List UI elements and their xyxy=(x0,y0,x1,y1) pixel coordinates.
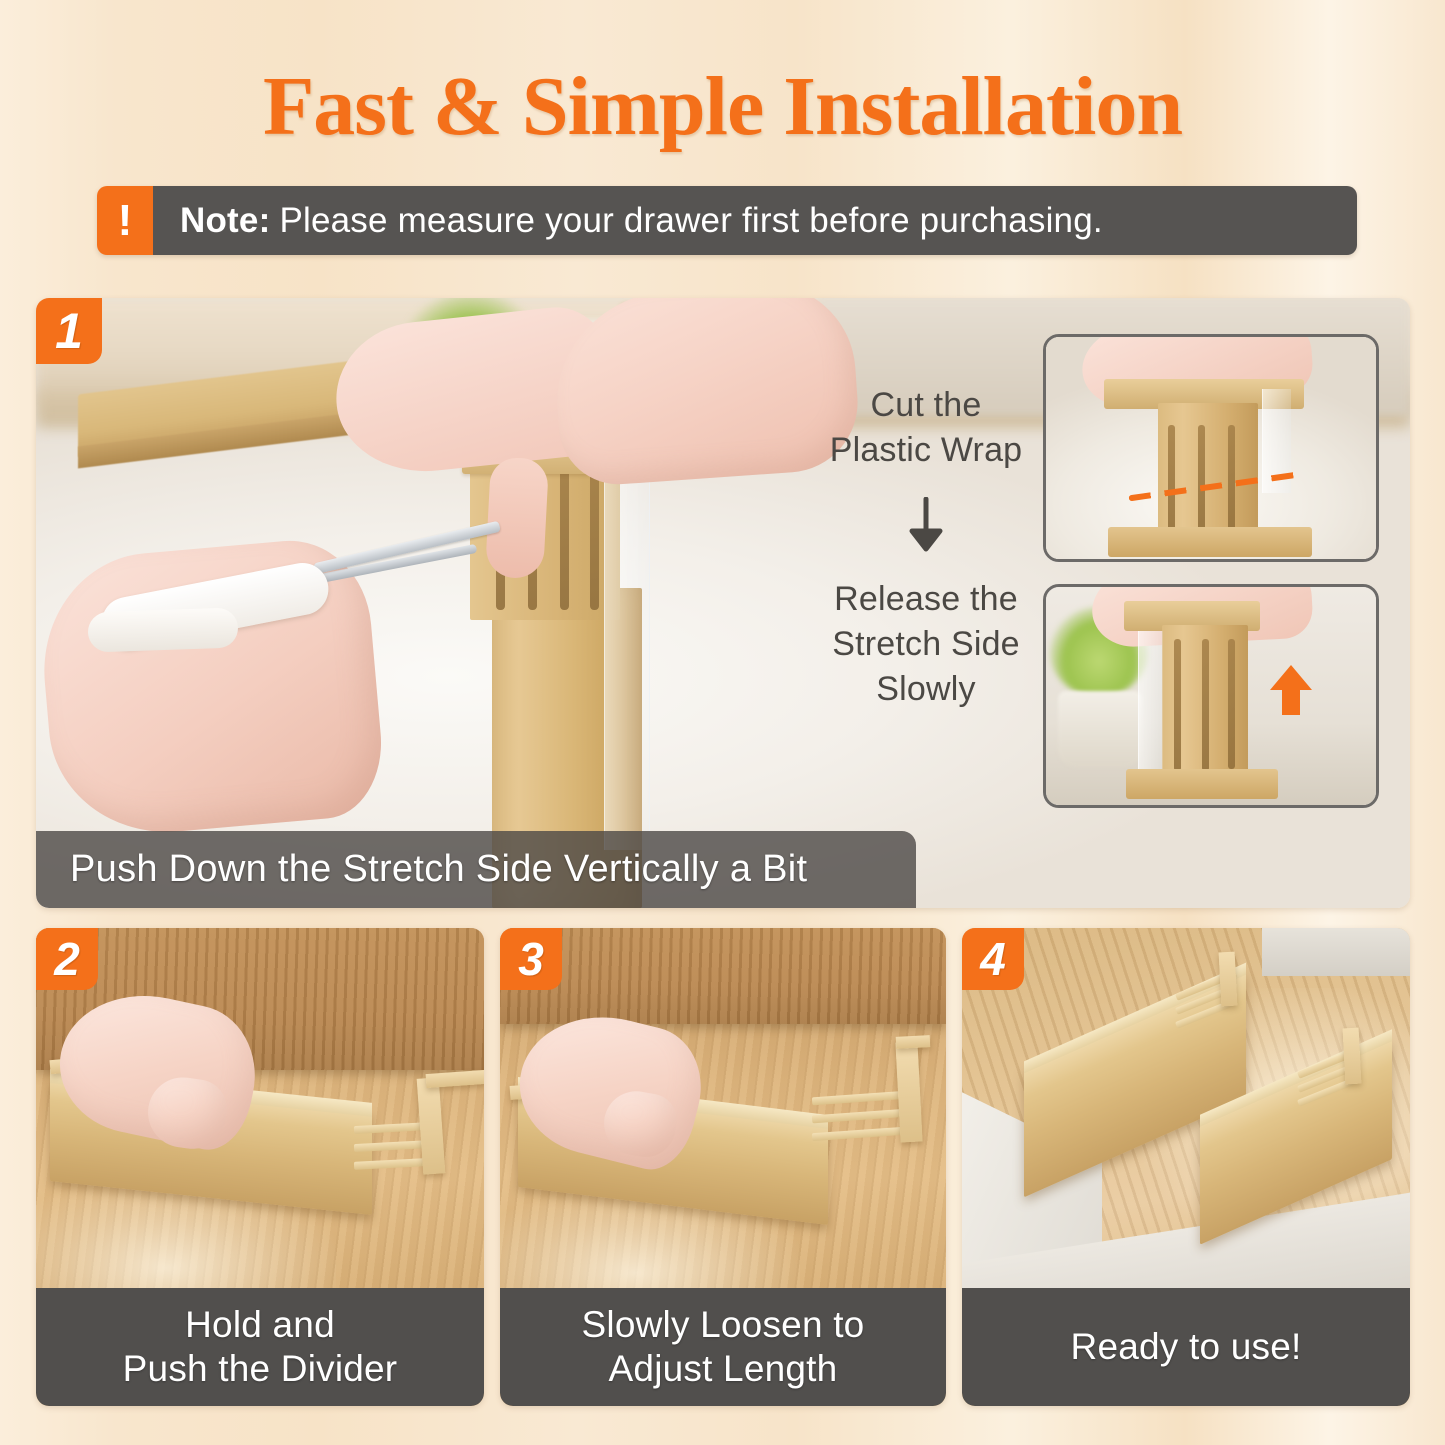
step-3-panel: 3 Slowly Loosen to Adjust Length xyxy=(500,928,946,1406)
step-2-panel: 2 Hold and Push the Divider xyxy=(36,928,484,1406)
infographic-page: Fast & Simple Installation ! Note: Pleas… xyxy=(0,0,1445,1445)
note-lead-label: Note: xyxy=(180,201,270,241)
page-title: Fast & Simple Installation xyxy=(0,58,1445,155)
inset-a-slot xyxy=(1168,425,1175,535)
step-2-badge: 2 xyxy=(36,928,98,990)
drawer-back-wall xyxy=(500,928,946,1024)
finger-pressing xyxy=(485,457,549,580)
release-stretch-side-inset xyxy=(1043,584,1379,808)
divider-end-post xyxy=(1343,1028,1362,1085)
arrow-down-icon xyxy=(776,497,1076,555)
scissors-handle-lower xyxy=(87,607,238,652)
step-4-panel: 4 Ready to use! xyxy=(962,928,1410,1406)
step-3-caption-line-2: Adjust Length xyxy=(609,1347,838,1391)
step-1-panel: Cut the Plastic Wrap Release the Stretch… xyxy=(36,298,1410,908)
step-2-caption: Hold and Push the Divider xyxy=(36,1288,484,1406)
orange-up-arrow-icon xyxy=(1268,663,1314,722)
exclamation-icon: ! xyxy=(97,186,153,255)
inset-b-slot xyxy=(1202,639,1209,771)
cut-plastic-wrap-inset xyxy=(1043,334,1379,562)
step-3-caption: Slowly Loosen to Adjust Length xyxy=(500,1288,946,1406)
divider-end-post xyxy=(1219,952,1238,1007)
inset-b-slot xyxy=(1174,639,1181,771)
step-1-caption: Push Down the Stretch Side Vertically a … xyxy=(36,831,916,908)
annotation-line-2: Plastic Wrap xyxy=(776,428,1076,473)
note-message: Please measure your drawer first before … xyxy=(279,201,1102,241)
note-text-container: Note: Please measure your drawer first b… xyxy=(153,186,1357,255)
annotation-line-3: Release the xyxy=(776,577,1076,622)
annotation-line-1: Cut the xyxy=(776,383,1076,428)
step-4-badge: 4 xyxy=(962,928,1024,990)
step-4-caption-line-1: Ready to use! xyxy=(1071,1325,1302,1369)
note-banner: ! Note: Please measure your drawer first… xyxy=(97,186,1357,255)
step-3-caption-line-1: Slowly Loosen to xyxy=(582,1303,865,1347)
divider-slot xyxy=(590,470,599,610)
inset-a-divider-base xyxy=(1108,527,1312,557)
step-2-caption-line-2: Push the Divider xyxy=(123,1347,398,1391)
divider-end-cap xyxy=(896,1035,931,1049)
inset-b-slot xyxy=(1228,639,1235,769)
divider-slot xyxy=(560,470,569,610)
annotation-line-4: Stretch Side xyxy=(776,622,1076,667)
inset-b-plastic-wrap xyxy=(1138,631,1163,777)
annotation-line-5: Slowly xyxy=(776,667,1076,712)
drawer-frame-top xyxy=(1262,928,1410,976)
plastic-wrap xyxy=(604,450,650,850)
step-2-caption-line-1: Hold and xyxy=(185,1303,335,1347)
inset-a-slot xyxy=(1198,425,1205,531)
inset-a-slot xyxy=(1228,425,1235,531)
inset-b-divider-base xyxy=(1126,769,1278,799)
inset-b-plant-pot xyxy=(1058,691,1142,767)
drawer-back-grain xyxy=(500,928,946,1024)
step-3-badge: 3 xyxy=(500,928,562,990)
step-4-caption: Ready to use! xyxy=(962,1288,1410,1406)
step-1-annotation-text: Cut the Plastic Wrap Release the Stretch… xyxy=(776,383,1076,711)
step-1-badge: 1 xyxy=(36,298,102,364)
